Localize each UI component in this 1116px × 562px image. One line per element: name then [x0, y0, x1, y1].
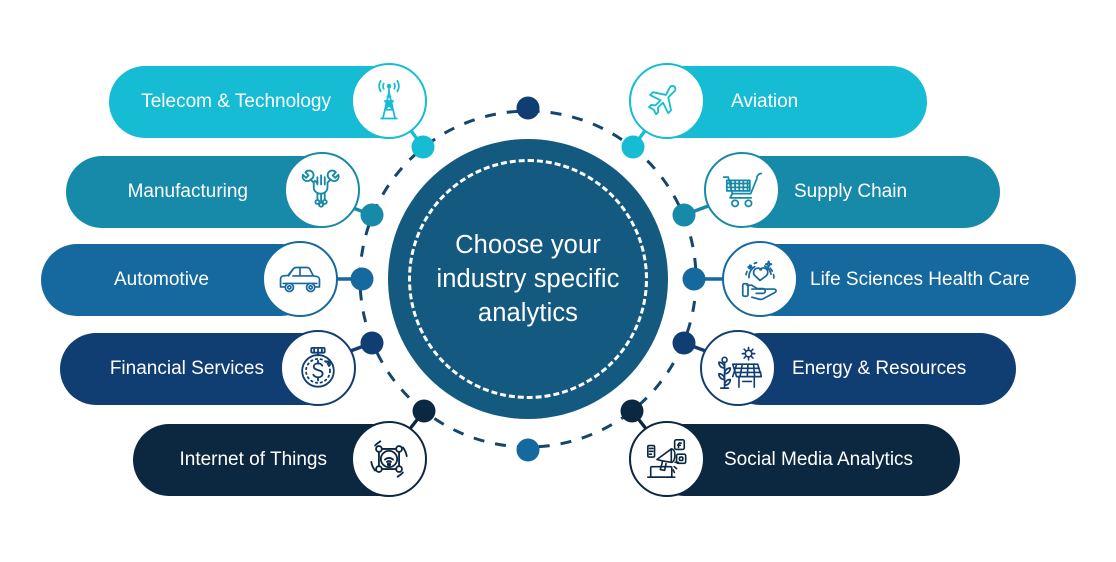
pill-label-life-sciences-health-care: Life Sciences Health Care [810, 269, 1030, 291]
pill-label-telecom-technology: Telecom & Technology [141, 91, 331, 113]
hub-inner-dashed-ring [408, 159, 648, 399]
node-financial [361, 332, 384, 355]
megaphone-social-icon [643, 436, 691, 482]
node-manufacturing [361, 204, 384, 227]
dollar-stopwatch-icon [295, 345, 341, 391]
bubble-internet-of-things[interactable] [351, 421, 427, 497]
pill-label-manufacturing: Manufacturing [128, 181, 248, 203]
bubble-financial-services[interactable] [280, 330, 356, 406]
pill-label-aviation: Aviation [731, 91, 798, 113]
pill-label-automotive: Automotive [114, 269, 209, 291]
infographic-canvas: Choose your industry specific analytics … [0, 0, 1116, 562]
bubble-social-media-analytics[interactable] [629, 421, 705, 497]
node-telecom [412, 136, 435, 159]
pill-label-social-media-analytics: Social Media Analytics [724, 449, 913, 471]
airplane-icon [645, 79, 689, 123]
node-iot [413, 400, 436, 423]
node-social-media [621, 400, 644, 423]
bubble-manufacturing[interactable] [284, 152, 360, 228]
pill-label-financial-services: Financial Services [110, 358, 264, 380]
hub-circle: Choose your industry specific analytics [388, 139, 668, 419]
heart-in-hand-icon [737, 256, 783, 302]
pill-label-energy-resources: Energy & Resources [792, 358, 966, 380]
node-supply-chain [673, 204, 696, 227]
telecom-tower-icon [368, 80, 410, 122]
solar-panel-plant-icon [714, 345, 762, 391]
node-life-sciences [683, 268, 706, 291]
node-aviation [622, 136, 645, 159]
bubble-automotive[interactable] [262, 241, 338, 317]
shopping-cart-icon [719, 168, 765, 212]
iot-wifi-network-icon [366, 436, 412, 482]
orbit-node-top [517, 97, 540, 120]
bubble-life-sciences-health-care[interactable] [722, 241, 798, 317]
bubble-supply-chain[interactable] [704, 152, 780, 228]
node-automotive [351, 268, 374, 291]
bubble-telecom-technology[interactable] [351, 63, 427, 139]
pill-label-supply-chain: Supply Chain [794, 181, 907, 203]
robotic-hand-wrench-icon [300, 168, 344, 212]
bubble-aviation[interactable] [629, 63, 705, 139]
car-icon [277, 256, 323, 302]
bubble-energy-resources[interactable] [700, 330, 776, 406]
node-energy [673, 332, 696, 355]
orbit-node-bottom [517, 439, 540, 462]
pill-label-internet-of-things: Internet of Things [179, 449, 327, 471]
connector-iot [409, 411, 424, 430]
